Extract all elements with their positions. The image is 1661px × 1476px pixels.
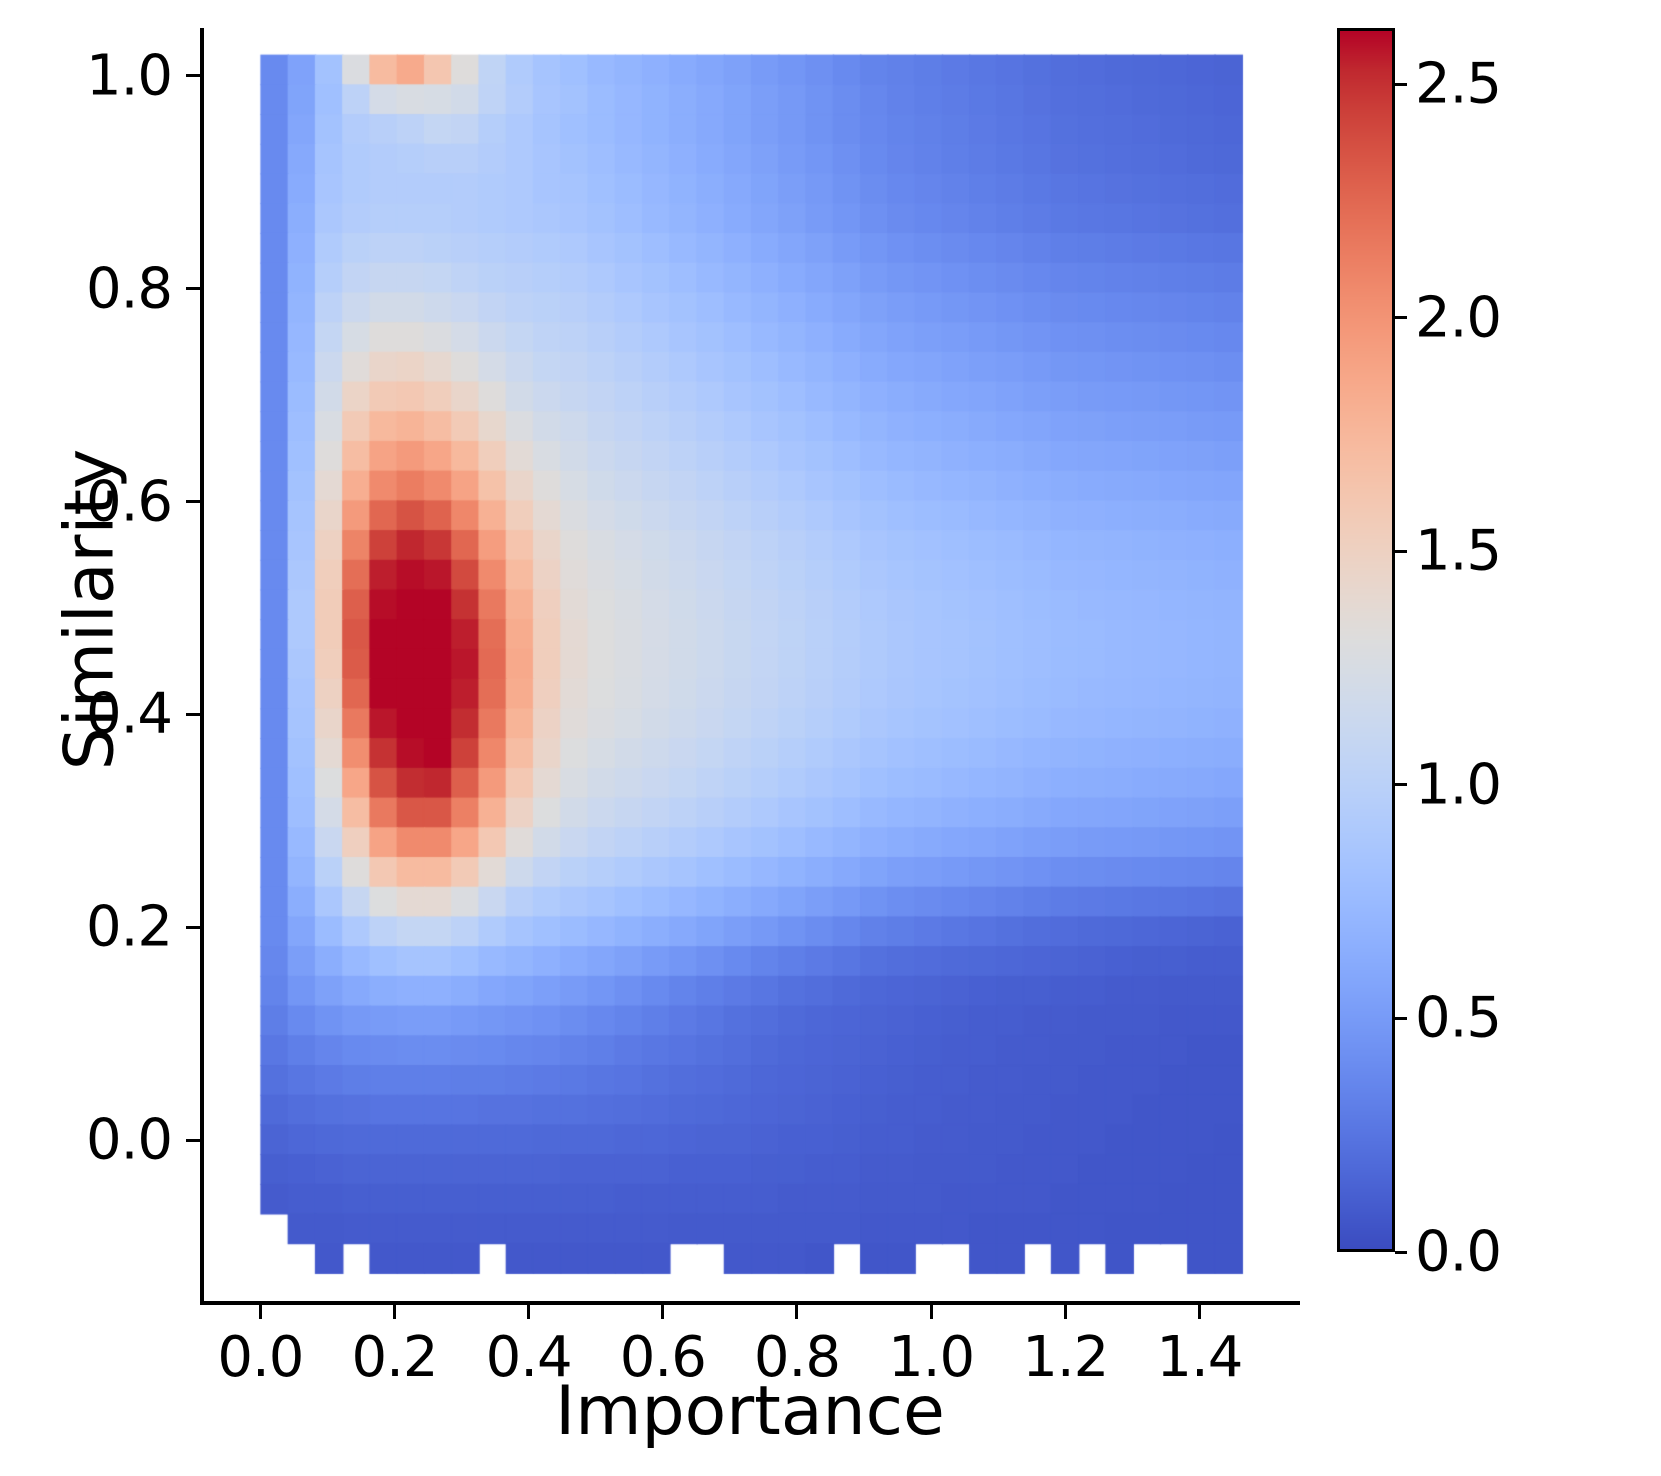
y-tick-mark xyxy=(186,500,200,503)
colorbar-tick-mark xyxy=(1395,550,1407,553)
colorbar-tick-label: 1.0 xyxy=(1415,752,1501,817)
y-tick-mark xyxy=(186,74,200,77)
colorbar-tick-label: 1.5 xyxy=(1415,519,1501,584)
figure-canvas: 0.00.20.40.60.81.01.21.4 0.00.20.40.60.8… xyxy=(0,0,1661,1476)
colorbar-tick-mark xyxy=(1395,783,1407,786)
x-tick-mark xyxy=(795,1305,798,1319)
colorbar-tick-mark xyxy=(1395,83,1407,86)
x-tick-mark xyxy=(1064,1305,1067,1319)
colorbar: 0.00.51.01.52.02.5 xyxy=(1337,28,1395,1252)
colorbar-tick-label: 0.5 xyxy=(1415,986,1501,1051)
colorbar-tick-label: 2.0 xyxy=(1415,285,1501,350)
y-tick-label: 0.0 xyxy=(86,1108,172,1173)
colorbar-tick-label: 0.0 xyxy=(1415,1220,1501,1285)
x-axis-label: Importance xyxy=(200,1372,1300,1451)
colorbar-tick-mark xyxy=(1395,316,1407,319)
x-tick-mark xyxy=(930,1305,933,1319)
y-tick-mark xyxy=(186,926,200,929)
x-tick-mark xyxy=(527,1305,530,1319)
colorbar-tick-mark xyxy=(1395,1017,1407,1020)
y-tick-mark xyxy=(186,713,200,716)
y-tick-label: 1.0 xyxy=(86,43,172,108)
y-axis-label: Similarity xyxy=(51,260,130,960)
x-tick-mark xyxy=(1198,1305,1201,1319)
x-tick-mark xyxy=(393,1305,396,1319)
y-tick-mark xyxy=(186,287,200,290)
colorbar-tick-label: 2.5 xyxy=(1415,52,1501,117)
axes-frame xyxy=(200,28,1300,1305)
x-tick-mark xyxy=(661,1305,664,1319)
colorbar-tick-mark xyxy=(1395,1251,1407,1254)
colorbar-gradient xyxy=(1337,28,1395,1252)
plot-area: 0.00.20.40.60.81.01.21.4 0.00.20.40.60.8… xyxy=(200,28,1300,1305)
x-tick-mark xyxy=(259,1305,262,1319)
y-tick-mark xyxy=(186,1139,200,1142)
